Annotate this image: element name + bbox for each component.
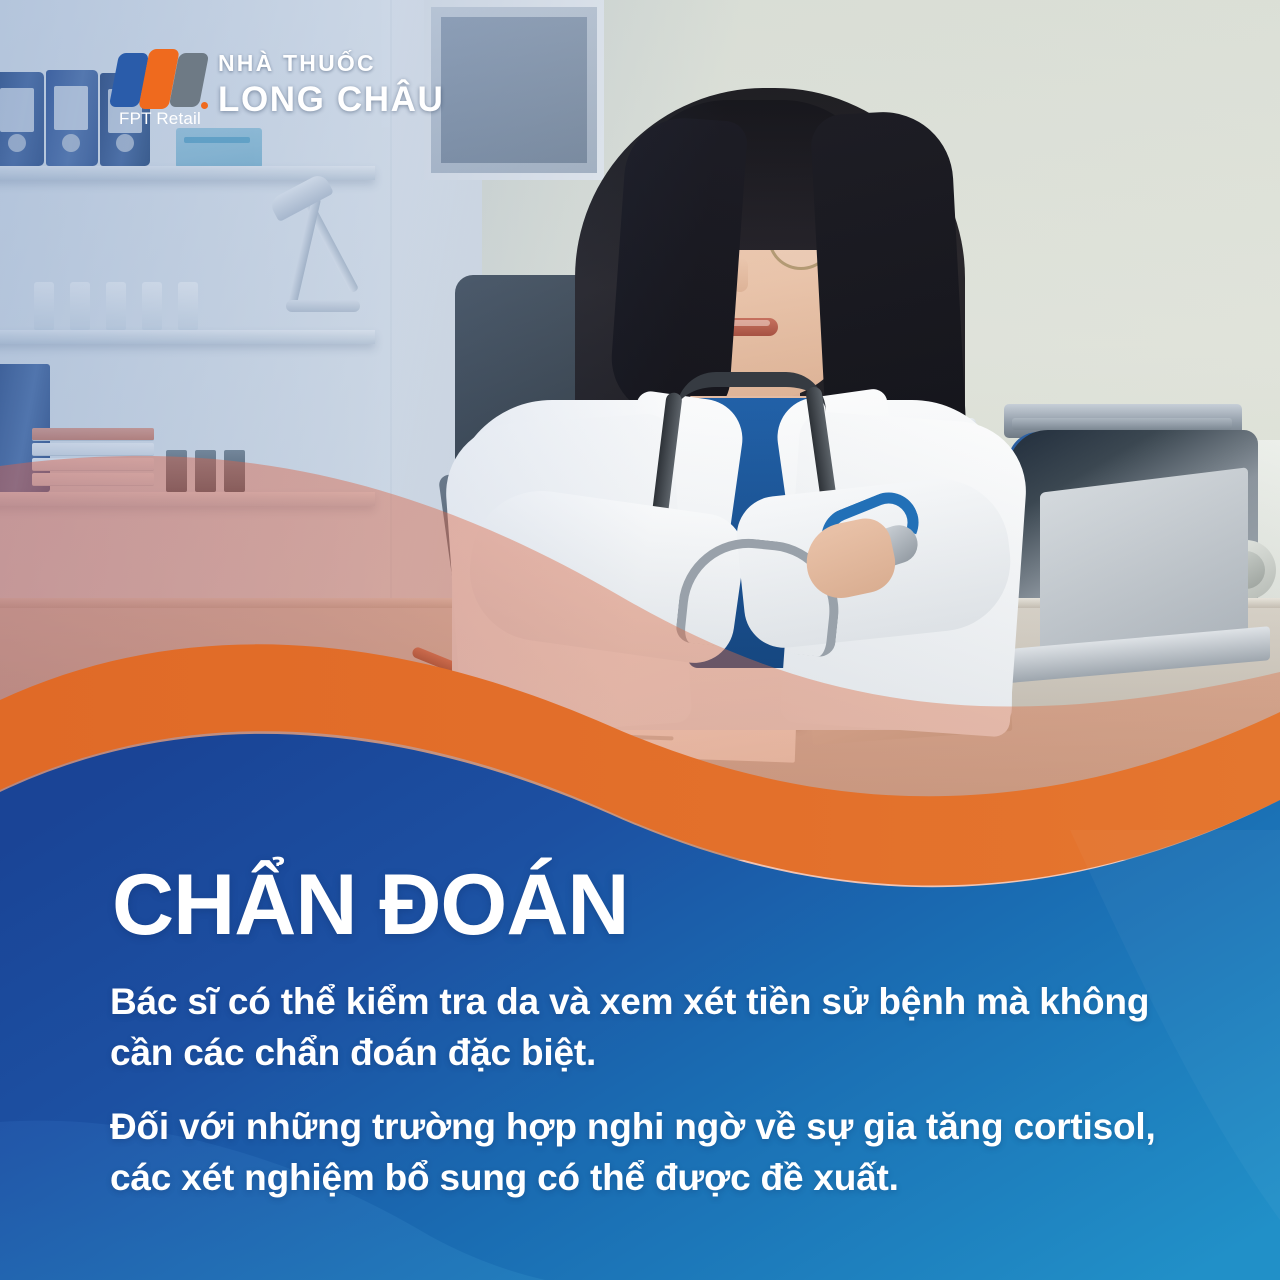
fpt-retail-logo-icon: FPT Retail <box>112 47 204 125</box>
registered-mark-icon <box>201 102 208 109</box>
page-title: CHẨN ĐOÁN <box>112 862 629 948</box>
poster-canvas: FPT Retail NHÀ THUỐC LONG CHÂU CHẨN ĐOÁN… <box>0 0 1280 1280</box>
brand-lockup: FPT Retail NHÀ THUỐC LONG CHÂU <box>112 47 444 125</box>
brand-line-1: NHÀ THUỐC <box>218 52 444 75</box>
body-copy: Bác sĩ có thể kiểm tra da và xem xét tiề… <box>110 976 1190 1204</box>
fpt-retail-wordmark: FPT Retail <box>112 109 208 129</box>
body-paragraph: Đối với những trường hợp nghi ngờ về sự … <box>110 1101 1190 1204</box>
body-paragraph: Bác sĩ có thể kiểm tra da và xem xét tiề… <box>110 976 1190 1079</box>
brand-line-2: LONG CHÂU <box>218 82 444 117</box>
brand-name: NHÀ THUỐC LONG CHÂU <box>218 52 444 121</box>
